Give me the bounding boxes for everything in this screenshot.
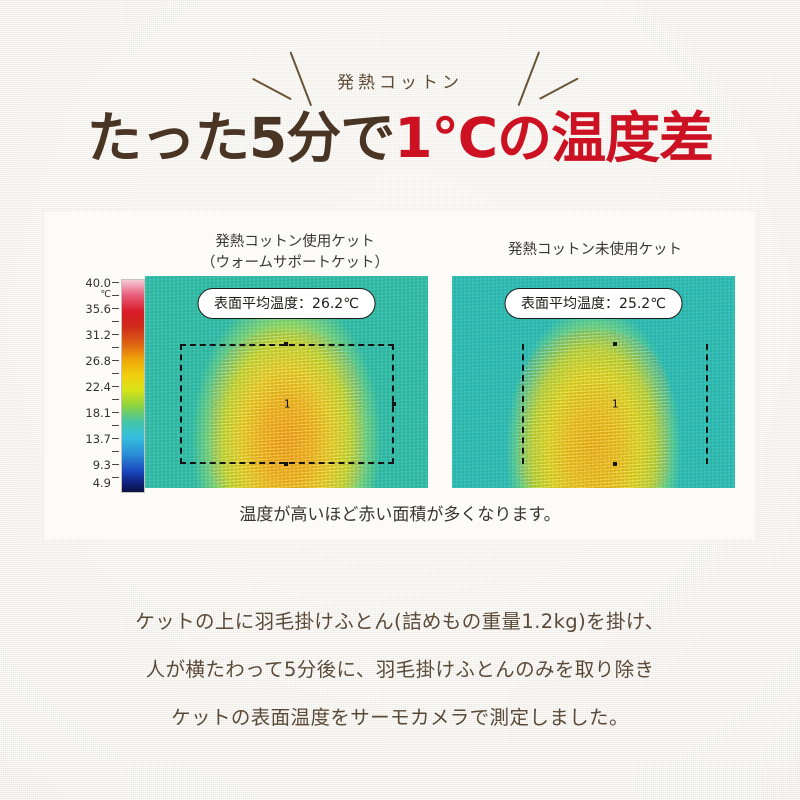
thermal-image-right: 表面平均温度：25.2℃ 1 xyxy=(452,276,735,488)
colorbar-tick: 35.6 xyxy=(85,302,111,316)
eyebrow-label: 発熱コットン xyxy=(0,68,800,93)
colorbar-tick: 22.4 xyxy=(85,380,111,394)
panel-left-title-line1: 発熱コットン使用ケット xyxy=(150,232,440,253)
colorbar-tick: 31.2 xyxy=(85,328,111,342)
temperature-colorbar: ℃ 40.0 35.6 31.2 26.8 22.4 18.1 13.7 9.3… xyxy=(63,276,155,494)
headline-part-dark: たった5分で xyxy=(87,106,394,170)
avg-temperature-badge-left: 表面平均温度：26.2℃ xyxy=(197,288,376,319)
colorbar-tick: 26.8 xyxy=(85,354,111,368)
card-caption: 温度が高いほど赤い面積が多くなります。 xyxy=(45,500,755,525)
panel-right-title-line1: 発熱コットン未使用ケット xyxy=(450,240,740,261)
colorbar-tick-labels: ℃ 40.0 35.6 31.2 26.8 22.4 18.1 13.7 9.3… xyxy=(63,276,119,494)
roi-rectangle-right: 1 xyxy=(522,344,708,464)
panel-right-title: 発熱コットン未使用ケット xyxy=(450,240,740,261)
roi-label-right: 1 xyxy=(612,398,619,411)
description-line-1: ケットの上に羽毛掛けふとん(詰めもの重量1.2kg)を掛け、 xyxy=(0,598,800,646)
description-line-3: ケットの表面温度をサーモカメラで測定しました。 xyxy=(0,694,800,742)
roi-label-left: 1 xyxy=(284,398,291,411)
colorbar-gradient xyxy=(121,279,145,493)
page-title: たった5分で1℃の温度差 xyxy=(0,108,800,170)
colorbar-tick: 13.7 xyxy=(85,432,111,446)
panel-left-title-line2: （ウォームサポートケット） xyxy=(150,253,440,274)
colorbar-tick: 18.1 xyxy=(85,406,111,420)
headline-part-red: 1℃の温度差 xyxy=(394,106,713,170)
thermal-image-left: 表面平均温度：26.2℃ 1 xyxy=(145,276,428,488)
panel-left-title: 発熱コットン使用ケット （ウォームサポートケット） xyxy=(150,232,440,274)
description-line-2: 人が横たわって5分後に、羽毛掛けふとんのみを取り除き xyxy=(0,646,800,694)
colorbar-tick: 4.9 xyxy=(93,476,111,490)
thermal-comparison-card: 発熱コットン使用ケット （ウォームサポートケット） 発熱コットン未使用ケット ℃… xyxy=(45,212,755,540)
roi-rectangle-left: 1 xyxy=(180,344,394,464)
colorbar-tick: 9.3 xyxy=(93,458,111,472)
description-block: ケットの上に羽毛掛けふとん(詰めもの重量1.2kg)を掛け、 人が横たわって5分… xyxy=(0,598,800,741)
avg-temperature-badge-right: 表面平均温度：25.2℃ xyxy=(504,288,683,319)
colorbar-unit-label: ℃ xyxy=(100,289,111,300)
panel-titles: 発熱コットン使用ケット （ウォームサポートケット） 発熱コットン未使用ケット xyxy=(45,212,755,272)
colorbar-tick: 40.0 xyxy=(85,276,111,290)
